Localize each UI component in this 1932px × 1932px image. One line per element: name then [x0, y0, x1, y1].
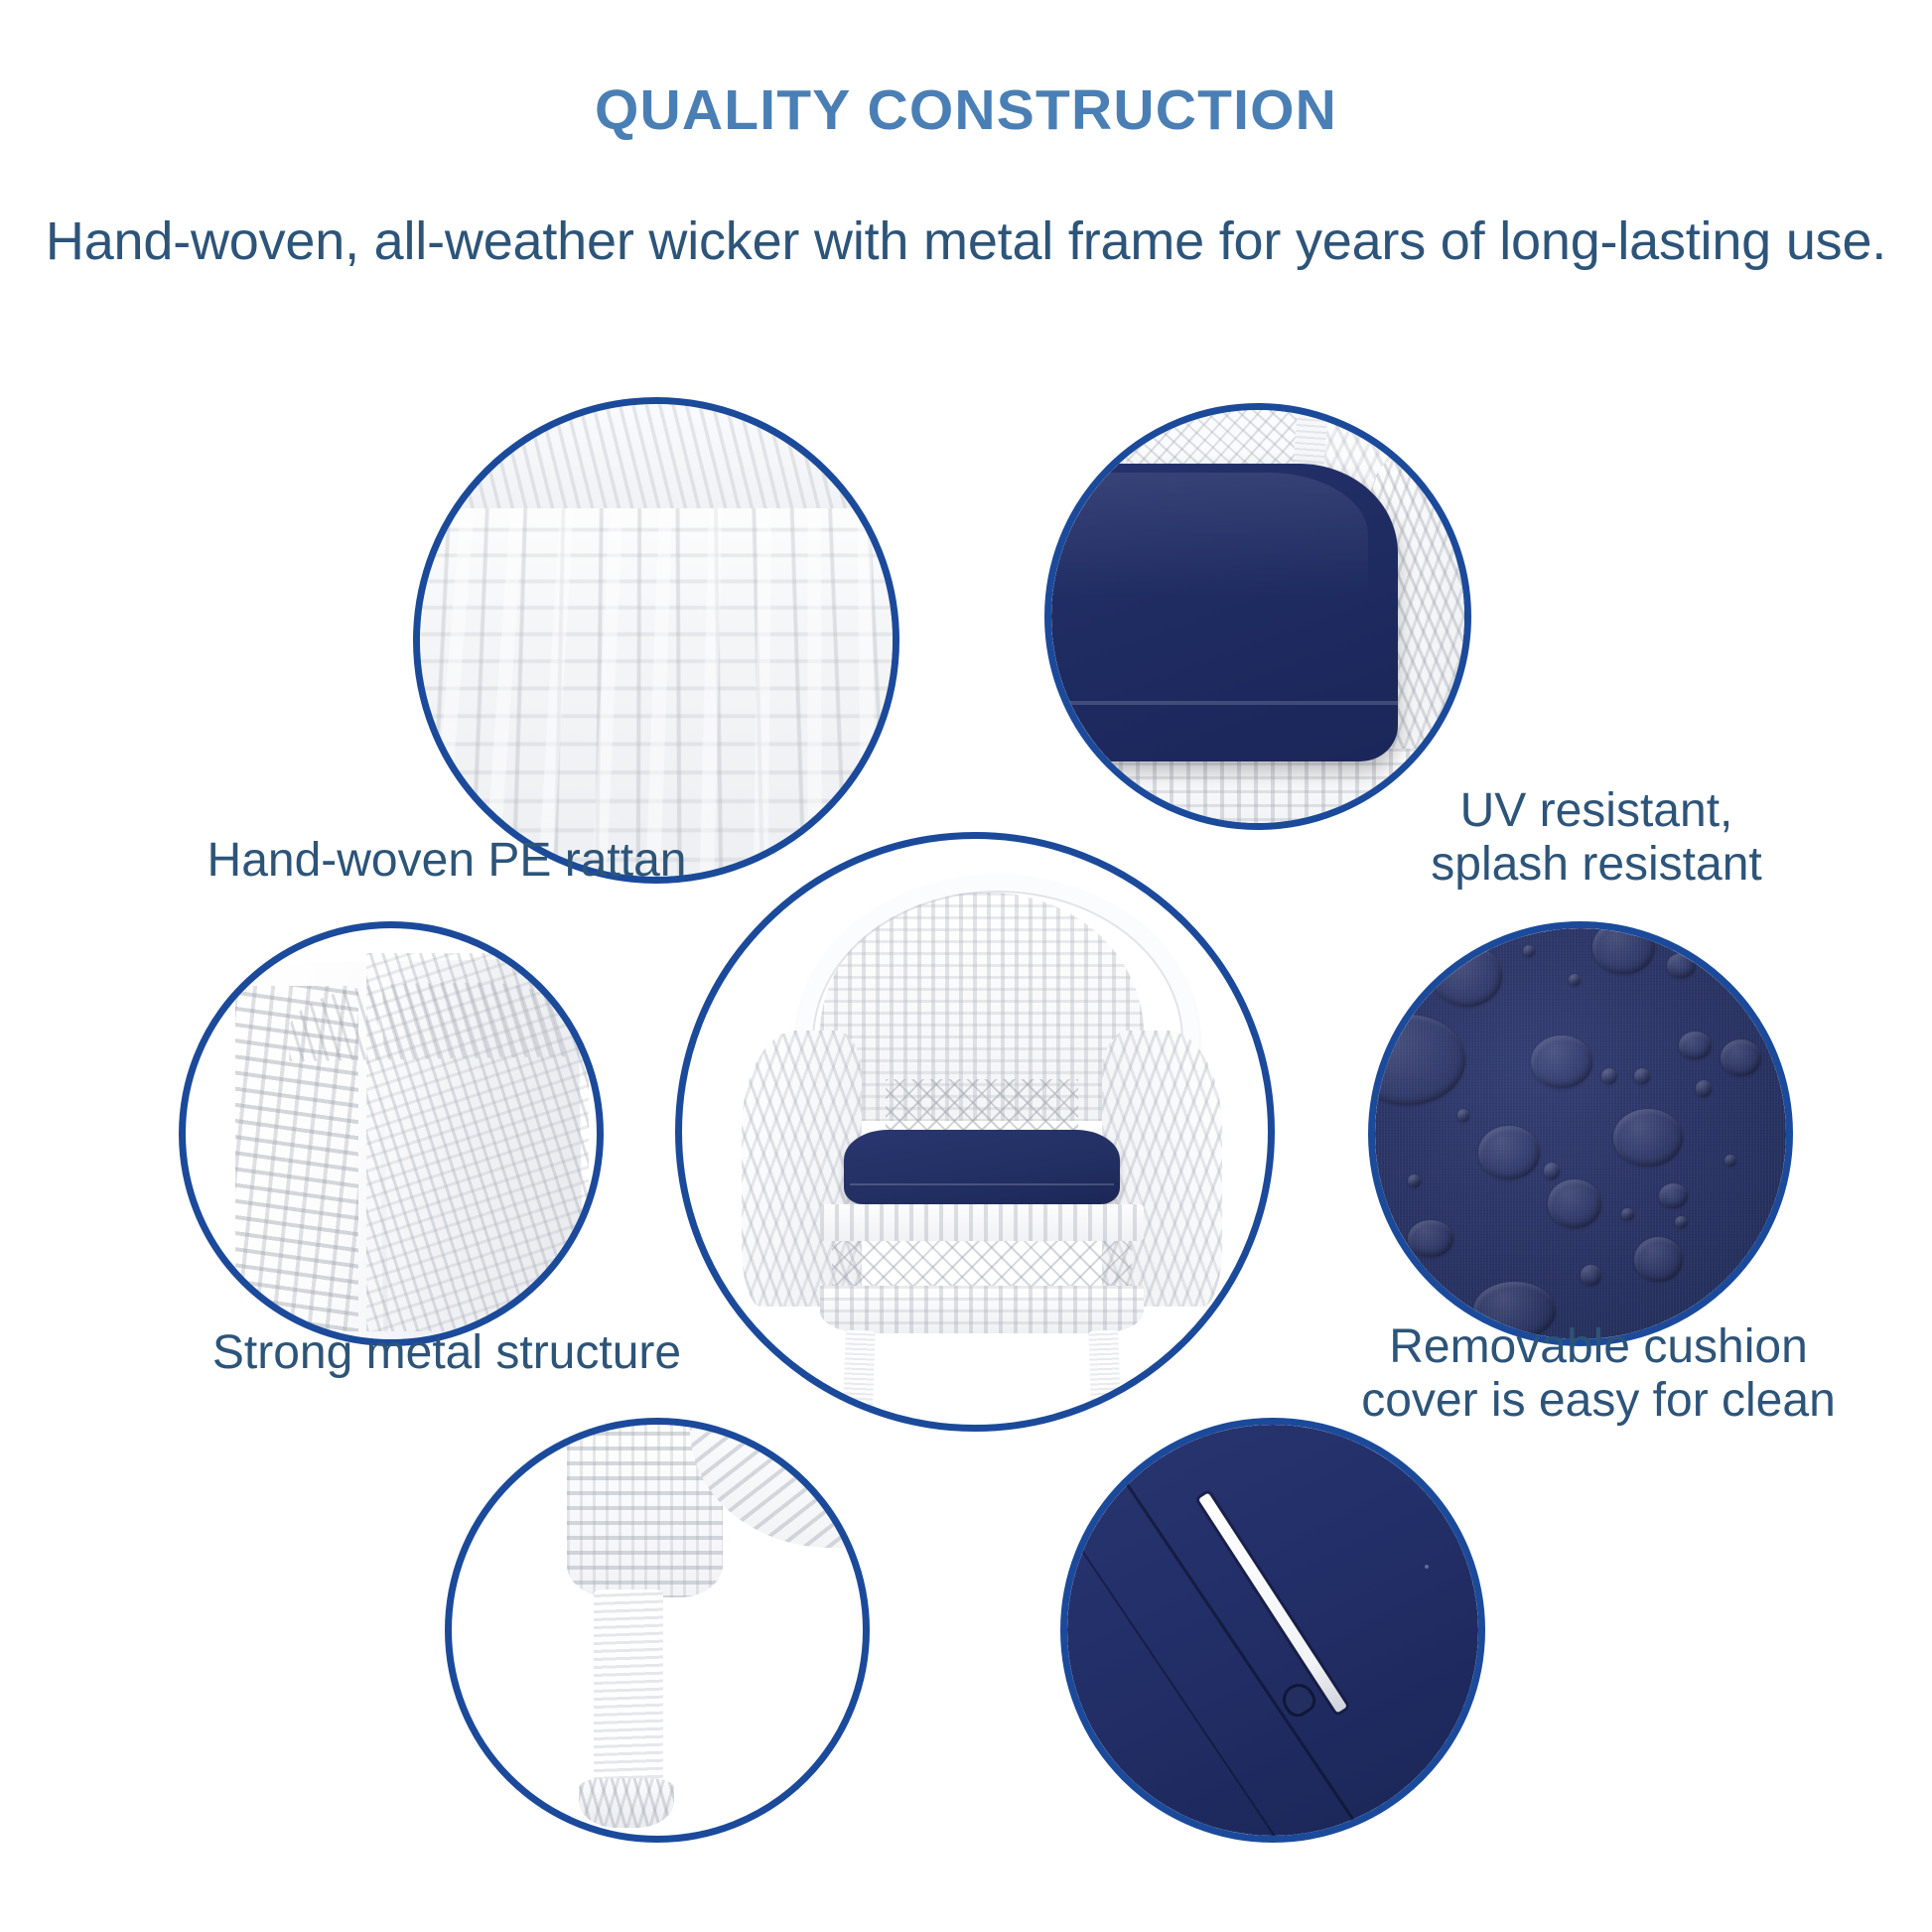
- cushion-zipper-image: [1067, 1425, 1478, 1836]
- feature-circle-full-chair: [675, 832, 1275, 1432]
- wicker-leg-image: [452, 1425, 863, 1836]
- feature-circle-hand-woven-pe-rattan: [413, 397, 899, 884]
- water-droplet: [1408, 1220, 1453, 1257]
- wicker-armchair: [682, 839, 1268, 1425]
- feature-circle-removable-cover-zipper: [1060, 1418, 1485, 1843]
- water-droplet: [1696, 1080, 1713, 1097]
- chair-skirt-lattice: [832, 1241, 1132, 1286]
- water-droplet: [1581, 1265, 1601, 1286]
- navy-seat-cushion: [1051, 464, 1398, 761]
- water-droplet: [1592, 928, 1654, 974]
- page-subtitle: Hand-woven, all-weather wicker with meta…: [0, 210, 1932, 272]
- water-droplet: [1613, 1109, 1683, 1167]
- wicker-tight-weave-face: [366, 953, 589, 1331]
- water-droplets-image: [1375, 928, 1786, 1339]
- feature-circle-water-beading: [1368, 921, 1793, 1346]
- water-droplet: [1634, 1237, 1684, 1283]
- wicker-leg-foot: [579, 1778, 673, 1828]
- caption-removable-cushion-cover: Removable cushion cover is easy for clea…: [1301, 1320, 1896, 1428]
- wicker-open-weave-face: [235, 986, 358, 1331]
- water-droplet: [1408, 1174, 1420, 1186]
- wicker-weave-top-edge: [420, 404, 893, 508]
- chair-skirt: [820, 1286, 1144, 1333]
- chair-navy-cushion: [844, 1130, 1120, 1205]
- caption-strong-metal-structure: Strong metal structure: [129, 1326, 764, 1380]
- caption-hand-woven-pe-rattan: Hand-woven PE rattan: [139, 834, 755, 888]
- cushion-on-wicker-image: [1051, 410, 1464, 823]
- feature-circle-wicker-leg: [445, 1418, 870, 1843]
- hand-woven-rattan-image: [420, 404, 893, 877]
- page-title: QUALITY CONSTRUCTION: [0, 77, 1932, 143]
- chair-leg-right: [1088, 1330, 1122, 1425]
- feature-circle-strong-metal-structure: [179, 921, 604, 1346]
- water-droplet: [1667, 953, 1696, 978]
- water-droplet: [1478, 1126, 1540, 1179]
- water-droplet: [1659, 1183, 1688, 1208]
- water-droplet: [1569, 974, 1581, 986]
- chair-seat-rail: [820, 1204, 1144, 1240]
- water-droplet: [1544, 1163, 1561, 1179]
- water-droplet: [1721, 1039, 1761, 1076]
- wicker-leg-shaft: [594, 1589, 663, 1795]
- water-droplet: [1621, 1208, 1633, 1220]
- caption-uv-splash-resistant: UV resistant, splash resistant: [1338, 784, 1855, 892]
- water-droplet: [1548, 1179, 1601, 1229]
- water-droplet: [1457, 1109, 1469, 1121]
- chair-leg-left: [842, 1330, 876, 1425]
- wicker-weave-texture: [420, 466, 893, 877]
- wicker-corner-image: [186, 928, 597, 1339]
- infographic-page: QUALITY CONSTRUCTION Hand-woven, all-wea…: [0, 0, 1932, 1932]
- water-droplet: [1675, 1216, 1687, 1228]
- full-chair-image: [682, 839, 1268, 1425]
- water-droplet: [1433, 945, 1502, 1007]
- feature-circle-uv-splash-resistant: [1044, 403, 1471, 830]
